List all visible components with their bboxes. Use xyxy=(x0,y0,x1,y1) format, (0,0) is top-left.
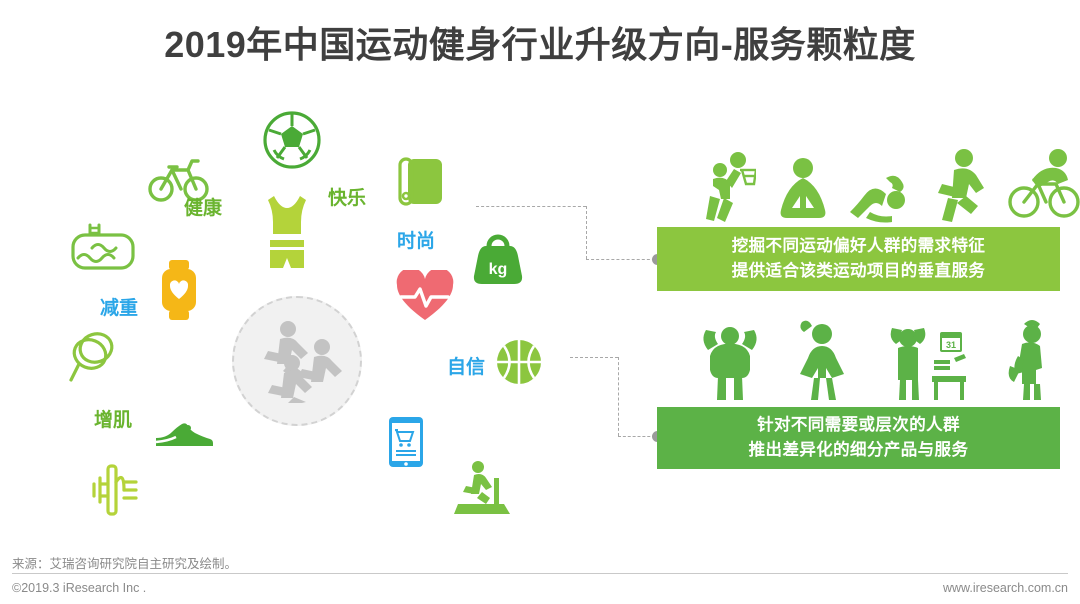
badminton-racket-icon xyxy=(68,330,120,389)
connector-2-segment-top xyxy=(570,357,618,358)
girl-child-icon xyxy=(794,316,848,402)
callout-box-segmented-products[interactable]: 针对不同需要或层次的人群 推出差异化的细分产品与服务 xyxy=(657,407,1060,469)
runner-icon xyxy=(934,146,986,224)
connector-1-segment-vertical xyxy=(586,206,587,259)
office-worker-desk-icon: 31 xyxy=(882,316,968,402)
footer-website-url[interactable]: www.iresearch.com.cn xyxy=(943,581,1068,595)
basketball-icon xyxy=(495,338,543,391)
page-title: 2019年中国运动健身行业升级方向-服务颗粒度 xyxy=(0,16,1080,68)
yoga-mat-icon xyxy=(398,157,444,212)
soccer-ball-icon xyxy=(262,110,322,175)
running-people-icon xyxy=(248,319,346,403)
sportswear-icon xyxy=(262,190,312,275)
svg-text:kg: kg xyxy=(489,261,508,278)
keyword-fashion: 时尚 xyxy=(397,232,435,251)
swimming-pool-icon xyxy=(70,222,136,277)
keyword-confidence: 自信 xyxy=(447,358,485,377)
figure-row-demographics: 31 xyxy=(700,316,1052,402)
connector-2-segment-vertical xyxy=(618,357,619,436)
keyword-weight-loss: 减重 xyxy=(100,299,138,318)
basketball-player-icon xyxy=(700,148,756,224)
callout-box-vertical-service[interactable]: 挖掘不同运动偏好人群的需求特征 提供适合该类运动项目的垂直服务 xyxy=(657,227,1060,291)
kg-weight-icon: kg xyxy=(472,232,524,289)
connector-1-segment-bottom xyxy=(586,259,660,260)
woman-with-bag-icon xyxy=(1002,316,1052,402)
treadmill-runner-icon xyxy=(452,458,514,525)
phone-shopping-cart-icon xyxy=(388,416,424,473)
keyword-health: 健康 xyxy=(184,199,222,218)
callout-2-line-2: 推出差异化的细分产品与服务 xyxy=(749,438,969,463)
callout-2-line-1: 针对不同需要或层次的人群 xyxy=(757,413,960,438)
heart-pulse-icon xyxy=(395,270,455,327)
bodybuilder-icon xyxy=(700,316,760,402)
running-shoe-icon xyxy=(152,420,214,457)
keyword-muscle-gain: 增肌 xyxy=(94,411,132,430)
swimmer-icon xyxy=(850,148,912,224)
smartwatch-heart-icon xyxy=(158,258,200,327)
footer-source: 来源：艾瑞咨询研究院自主研究及绘制。 xyxy=(12,553,237,572)
connector-1-segment-top xyxy=(476,206,586,207)
center-running-people-badge xyxy=(232,296,362,426)
callout-1-line-2: 提供适合该类运动项目的垂直服务 xyxy=(732,259,986,284)
infographic-page: 2019年中国运动健身行业升级方向-服务颗粒度 xyxy=(0,0,1080,604)
footer-divider xyxy=(12,573,1068,574)
callout-1-line-1: 挖掘不同运动偏好人群的需求特征 xyxy=(732,234,986,259)
keyword-happy: 快乐 xyxy=(328,189,366,208)
yoga-meditation-icon xyxy=(778,148,828,224)
svg-text:31: 31 xyxy=(946,340,956,350)
cyclist-icon xyxy=(1008,146,1080,224)
figure-row-sports xyxy=(700,146,1080,224)
footer-copyright: ©2019.3 iResearch Inc . xyxy=(12,581,146,595)
dumbbell-icon xyxy=(88,462,144,523)
